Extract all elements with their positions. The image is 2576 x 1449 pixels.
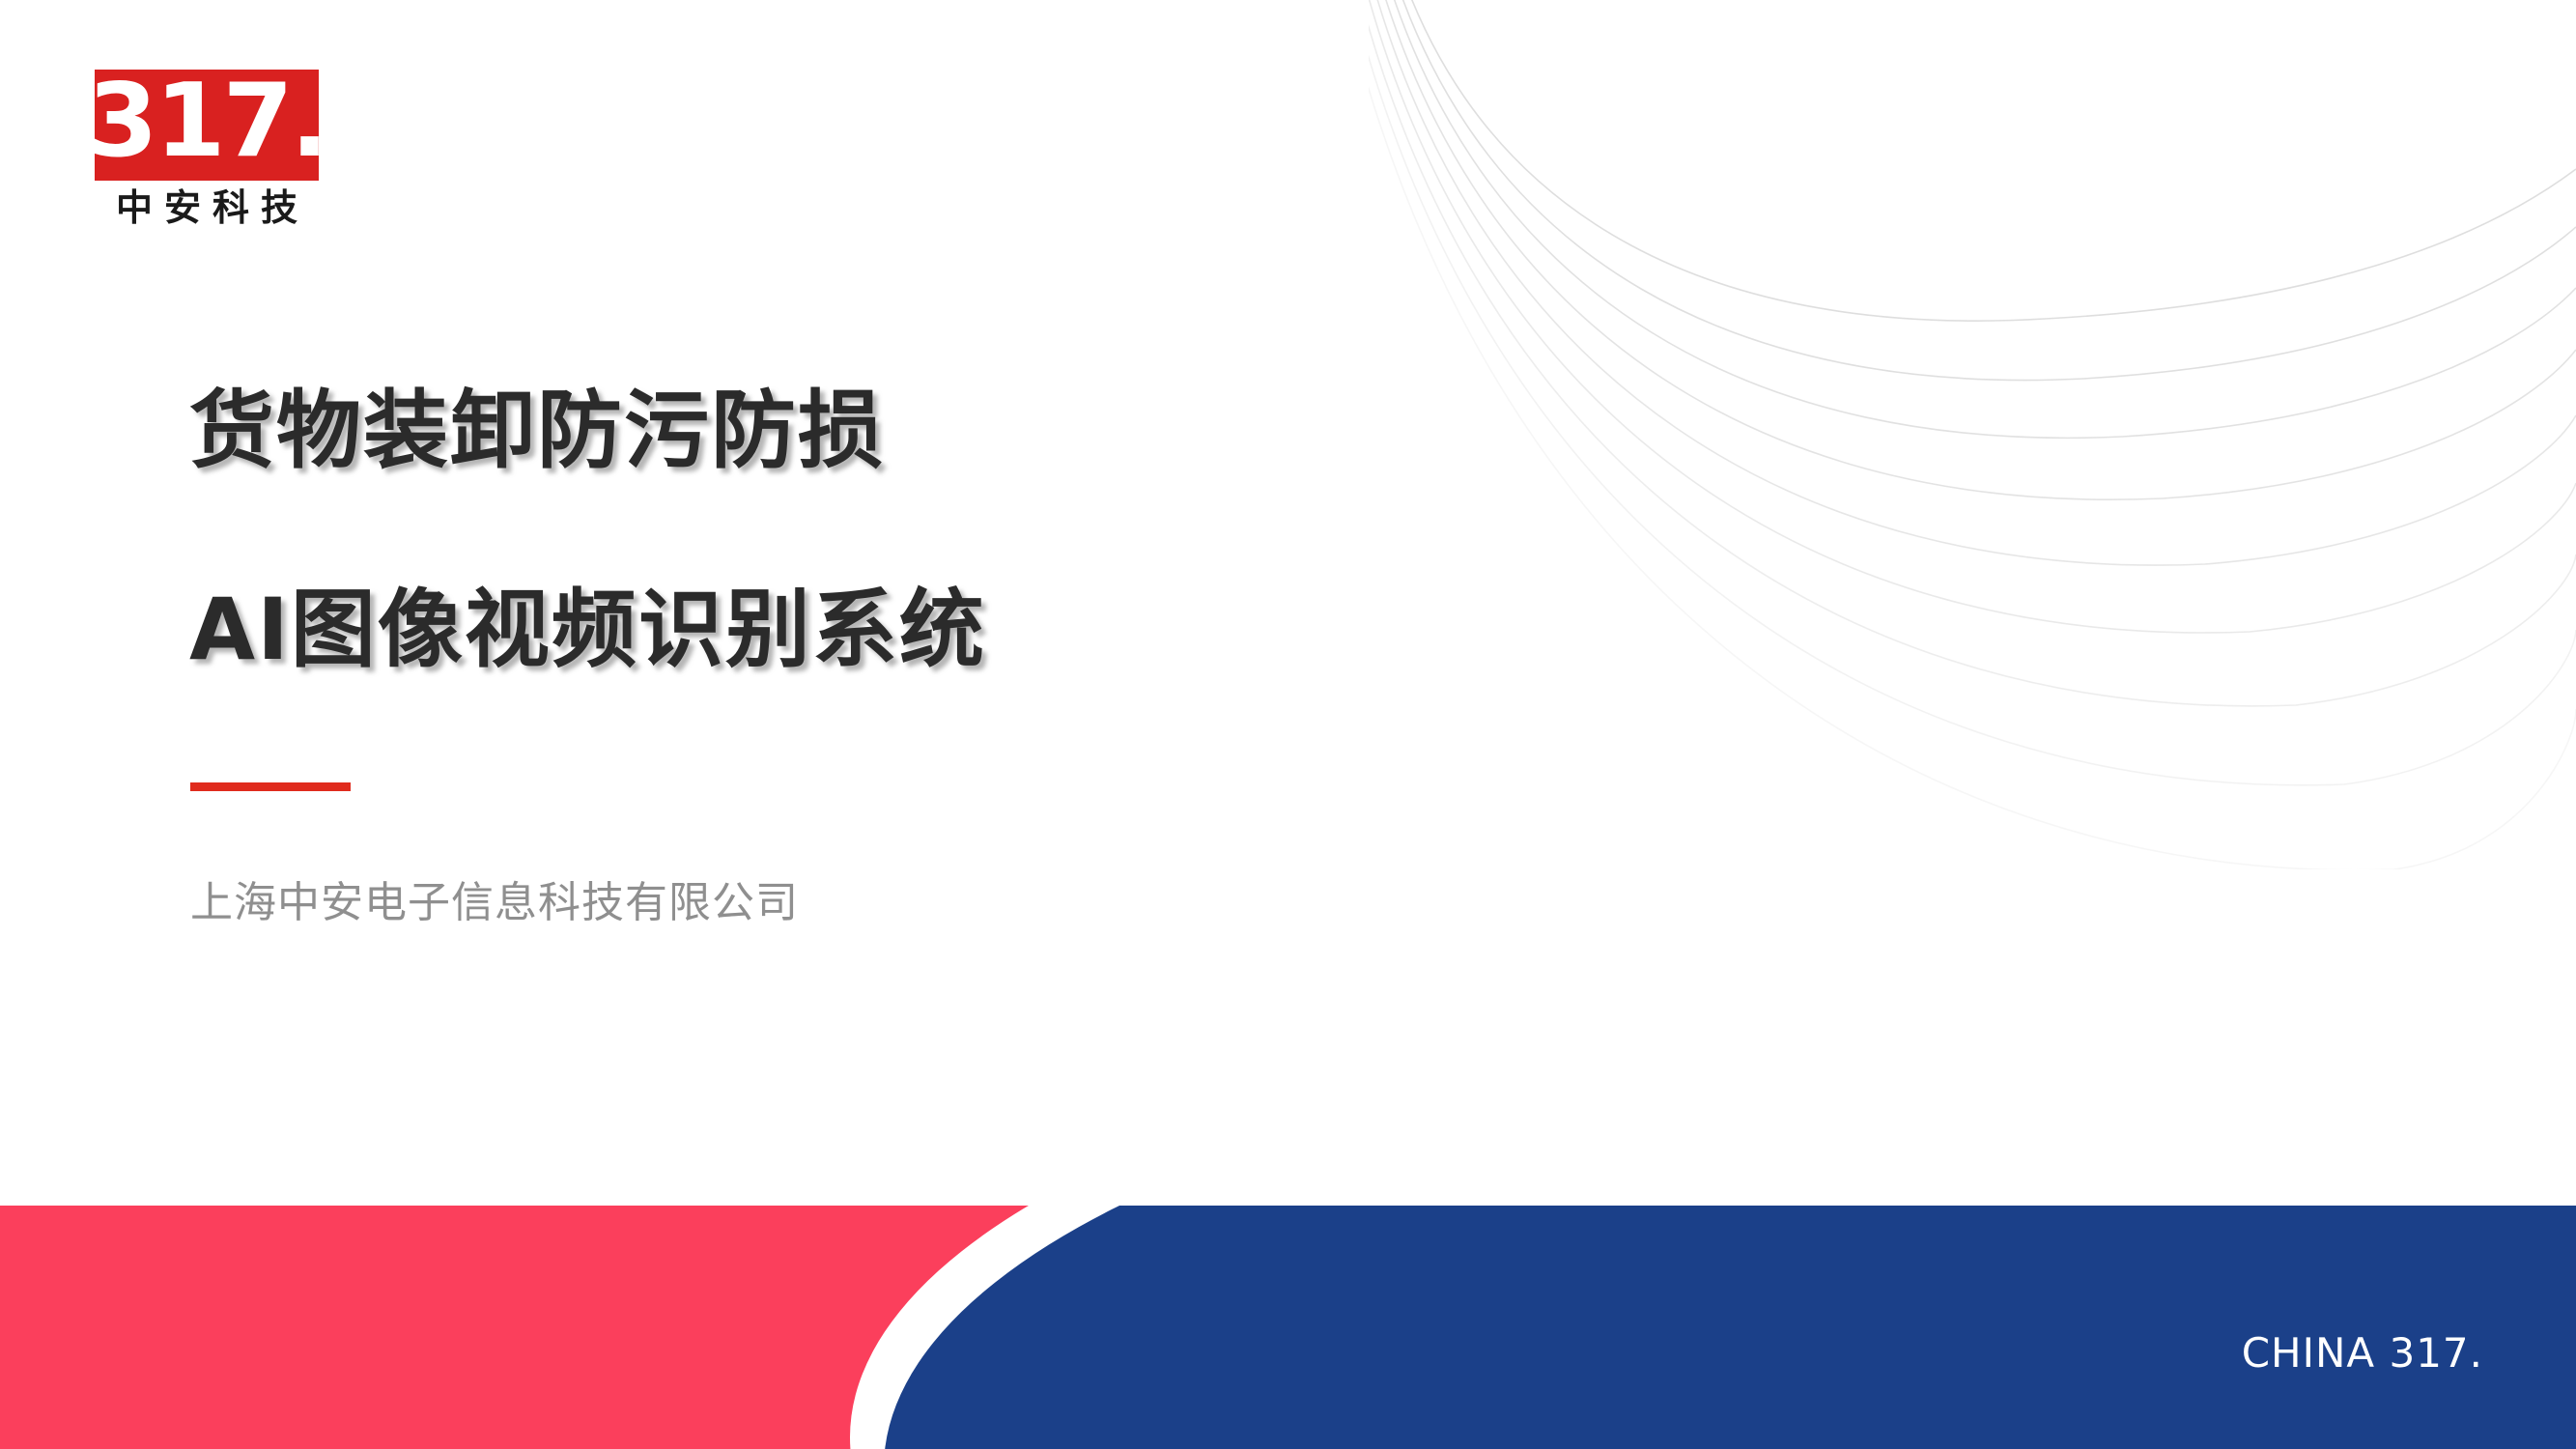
logo-mark: 317. — [95, 70, 319, 181]
bottom-banner: CHINA 317. — [0, 1206, 2576, 1449]
title-line-1: 货物装卸防污防损 — [189, 388, 1638, 473]
banner-brand-label: CHINA 317. — [2242, 1329, 2483, 1377]
accent-rule — [190, 782, 351, 791]
slide-title: 货物装卸防污防损 AI图像视频识别系统 — [189, 388, 1638, 672]
slide-subtitle: 上海中安电子信息科技有限公司 — [190, 867, 799, 929]
logo-subtext: 中安科技 — [95, 188, 319, 229]
company-logo: 317. 中安科技 — [95, 70, 319, 229]
logo-mark-text: 317. — [87, 71, 326, 172]
banner-blue-field — [884, 1206, 2576, 1449]
slide-canvas: 317. 中安科技 货物装卸防污防损 AI图像视频识别系统 上海中安电子信息科技… — [0, 0, 2576, 1449]
title-line-2: AI图像视频识别系统 — [189, 587, 1638, 672]
